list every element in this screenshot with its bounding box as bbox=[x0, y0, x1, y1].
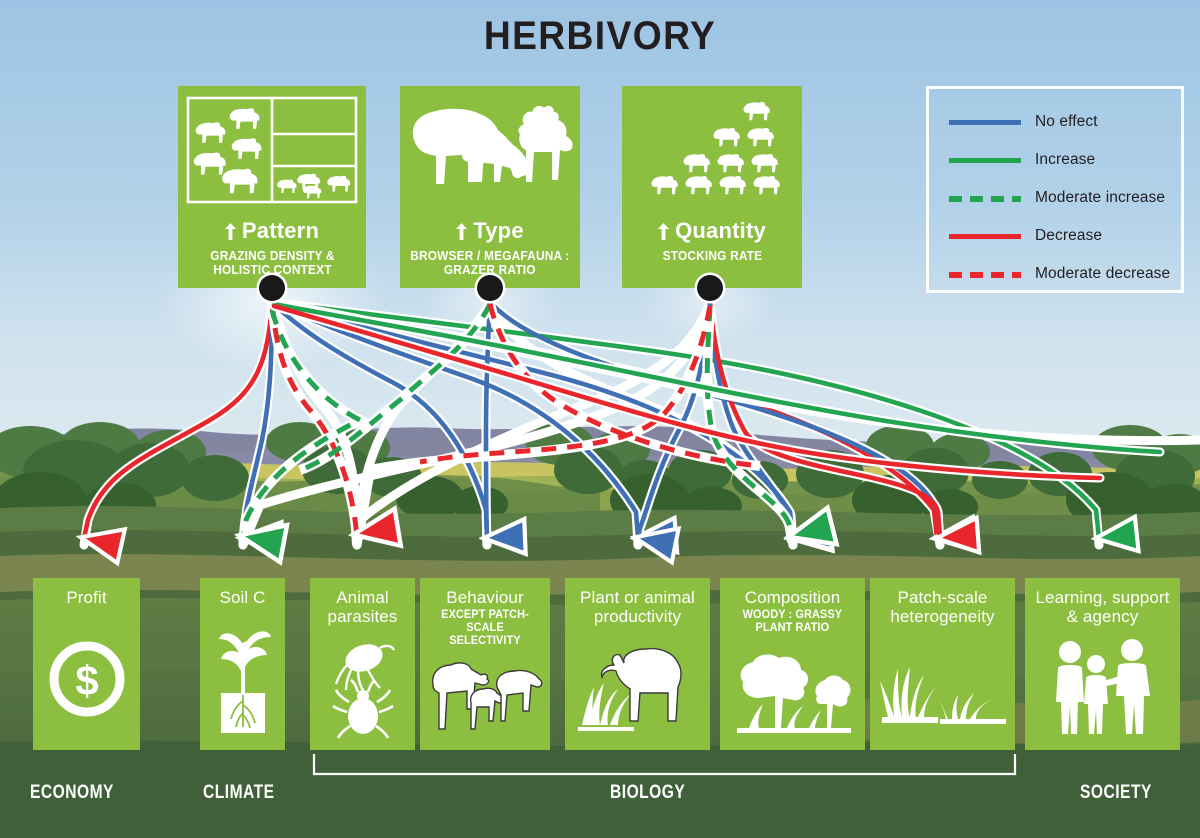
infographic-canvas: HERBIVORY bbox=[0, 0, 1200, 838]
driver-title-text: Pattern bbox=[242, 218, 319, 244]
legend-item-moderate-increase: Moderate increase bbox=[929, 179, 1181, 217]
outcome-box-behaviour[interactable]: Behaviour EXCEPT PATCH-SCALESELECTIVITY bbox=[420, 578, 550, 750]
outcome-box-learning[interactable]: Learning, support& agency bbox=[1025, 578, 1180, 750]
driver-title: Pattern bbox=[225, 218, 319, 244]
cattle-herd-stack-icon bbox=[622, 94, 802, 212]
driver-title-text: Type bbox=[473, 218, 524, 244]
plant-roots-soil-icon bbox=[200, 607, 285, 750]
legend-swatch-solid-blue bbox=[949, 116, 1021, 128]
legend: No effect Increase Moderate increase Dec… bbox=[926, 86, 1184, 293]
outcome-label: Composition bbox=[745, 588, 841, 607]
grass-tussocks-icon bbox=[870, 626, 1015, 750]
dollar-coin-icon: $ bbox=[33, 607, 140, 750]
source-node-type[interactable] bbox=[477, 275, 503, 301]
driver-box-type[interactable]: Type BROWSER / MEGAFAUNA :GRAZER RATIO bbox=[400, 86, 580, 288]
legend-label: Decrease bbox=[1035, 227, 1102, 245]
cow-grazing-grass-icon bbox=[565, 626, 710, 750]
legend-label: Increase bbox=[1035, 151, 1095, 169]
up-arrow-icon bbox=[225, 223, 236, 240]
outcome-box-productivity[interactable]: Plant or animalproductivity bbox=[565, 578, 710, 750]
outcome-label: Learning, support& agency bbox=[1035, 588, 1169, 626]
driver-title: Quantity bbox=[658, 218, 766, 244]
svg-text:$: $ bbox=[75, 657, 98, 704]
driver-subtitle: STOCKING RATE bbox=[662, 249, 762, 263]
outcome-box-heterogeneity[interactable]: Patch-scaleheterogeneity bbox=[870, 578, 1015, 750]
driver-subtitle: GRAZING DENSITY &HOLISTIC CONTEXT bbox=[210, 249, 334, 277]
driver-title-text: Quantity bbox=[675, 218, 766, 244]
category-label-economy: ECONOMY bbox=[30, 782, 114, 804]
driver-subtitle: BROWSER / MEGAFAUNA :GRAZER RATIO bbox=[410, 249, 569, 277]
legend-swatch-dashed-red bbox=[949, 268, 1021, 280]
parasite-tick-icon bbox=[310, 626, 415, 750]
source-node-pattern[interactable] bbox=[259, 275, 285, 301]
legend-swatch-dashed-green bbox=[949, 192, 1021, 204]
outcome-label: Patch-scaleheterogeneity bbox=[890, 588, 994, 626]
outcome-subtitle: EXCEPT PATCH-SCALESELECTIVITY bbox=[423, 609, 547, 648]
outcome-box-animal-parasites[interactable]: Animalparasites bbox=[310, 578, 415, 750]
legend-label: Moderate decrease bbox=[1035, 265, 1170, 283]
people-group-icon bbox=[1025, 626, 1180, 750]
outcome-label: Plant or animalproductivity bbox=[580, 588, 695, 626]
source-node-quantity[interactable] bbox=[697, 275, 723, 301]
legend-label: No effect bbox=[1035, 113, 1098, 131]
outcome-label: Profit bbox=[66, 588, 106, 607]
outcome-label: Animalparasites bbox=[328, 588, 398, 626]
page-title: HERBIVORY bbox=[42, 14, 1158, 59]
cow-goat-sheep-icon bbox=[400, 94, 580, 212]
category-label-climate: CLIMATE bbox=[203, 782, 275, 804]
up-arrow-icon bbox=[456, 223, 467, 240]
category-label-biology: BIOLOGY bbox=[610, 782, 685, 804]
outcome-box-soil-c[interactable]: Soil C bbox=[200, 578, 285, 750]
tree-shrub-icon bbox=[720, 635, 865, 750]
legend-label: Moderate increase bbox=[1035, 189, 1165, 207]
outcome-box-composition[interactable]: Composition WOODY : GRASSYPLANT RATIO bbox=[720, 578, 865, 750]
legend-item-moderate-decrease: Moderate decrease bbox=[929, 255, 1181, 293]
legend-item-decrease: Decrease bbox=[929, 217, 1181, 255]
driver-title: Type bbox=[456, 218, 524, 244]
legend-swatch-solid-red bbox=[949, 230, 1021, 242]
outcome-subtitle: WOODY : GRASSYPLANT RATIO bbox=[743, 609, 842, 635]
cattle-paddock-grid-icon bbox=[178, 94, 366, 212]
outcome-label: Behaviour bbox=[446, 588, 523, 607]
category-label-society: SOCIETY bbox=[1080, 782, 1152, 804]
up-arrow-icon bbox=[658, 223, 669, 240]
outcome-label: Soil C bbox=[220, 588, 266, 607]
driver-box-quantity[interactable]: Quantity STOCKING RATE bbox=[622, 86, 802, 288]
driver-box-pattern[interactable]: Pattern GRAZING DENSITY &HOLISTIC CONTEX… bbox=[178, 86, 366, 288]
legend-swatch-solid-green bbox=[949, 154, 1021, 166]
outcome-box-profit[interactable]: Profit $ bbox=[33, 578, 140, 750]
legend-item-no-effect: No effect bbox=[929, 103, 1181, 141]
biology-bracket bbox=[312, 752, 1017, 778]
cattle-group-icon bbox=[420, 648, 550, 750]
legend-item-increase: Increase bbox=[929, 141, 1181, 179]
